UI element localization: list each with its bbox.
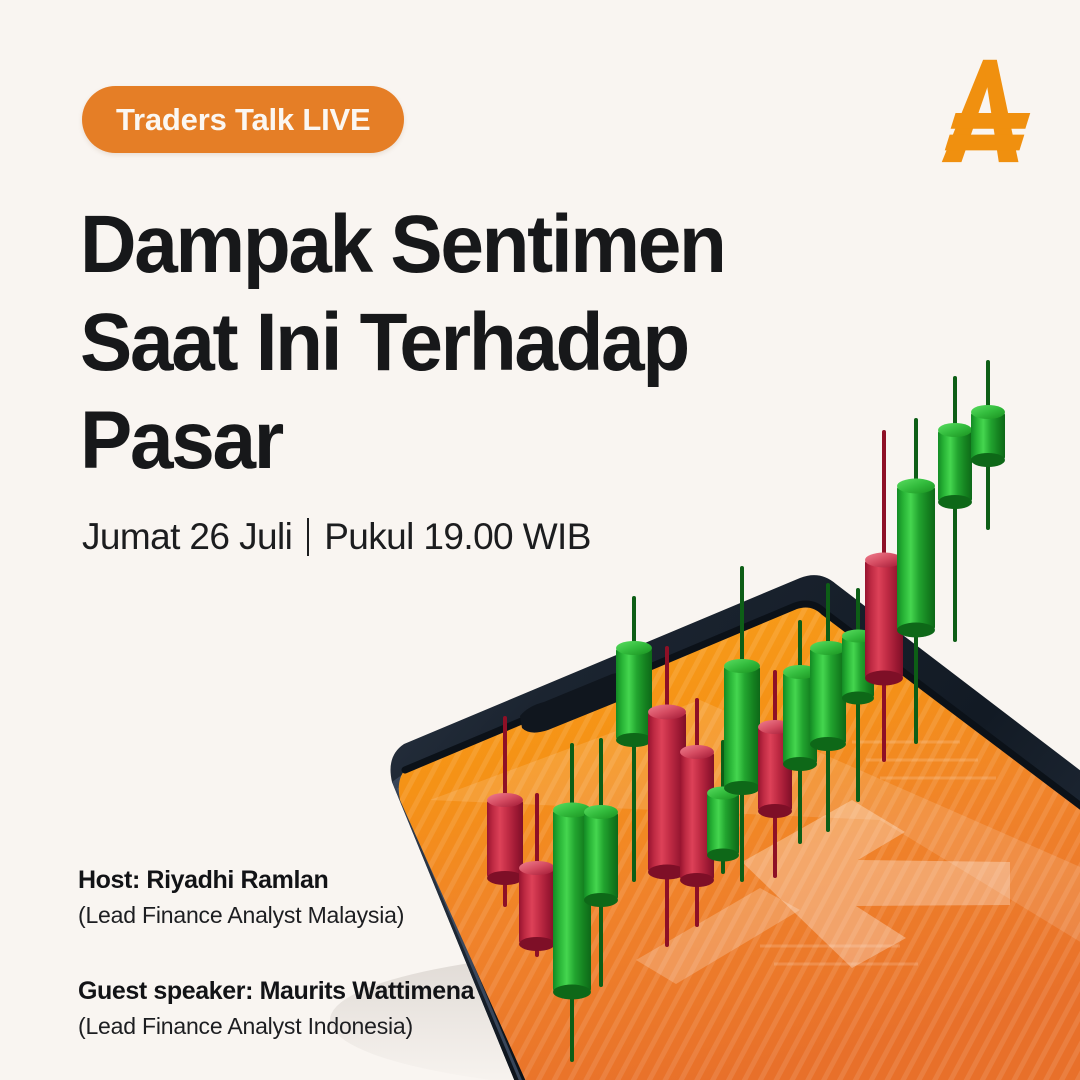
credit-guest-name: Guest speaker: Maurits Wattimena [78, 977, 474, 1006]
credit-guest-role: (Lead Finance Analyst Indonesia) [78, 1013, 474, 1040]
credit-host: Host: Riyadhi Ramlan (Lead Finance Analy… [78, 866, 474, 929]
poster-canvas: Traders Talk LIVE Dampak Sentimen Saat I… [0, 0, 1080, 1080]
credit-host-name: Host: Riyadhi Ramlan [78, 866, 474, 895]
credit-host-role: (Lead Finance Analyst Malaysia) [78, 902, 474, 929]
credit-guest: Guest speaker: Maurits Wattimena (Lead F… [78, 977, 474, 1040]
credits-block: Host: Riyadhi Ramlan (Lead Finance Analy… [78, 866, 474, 1040]
